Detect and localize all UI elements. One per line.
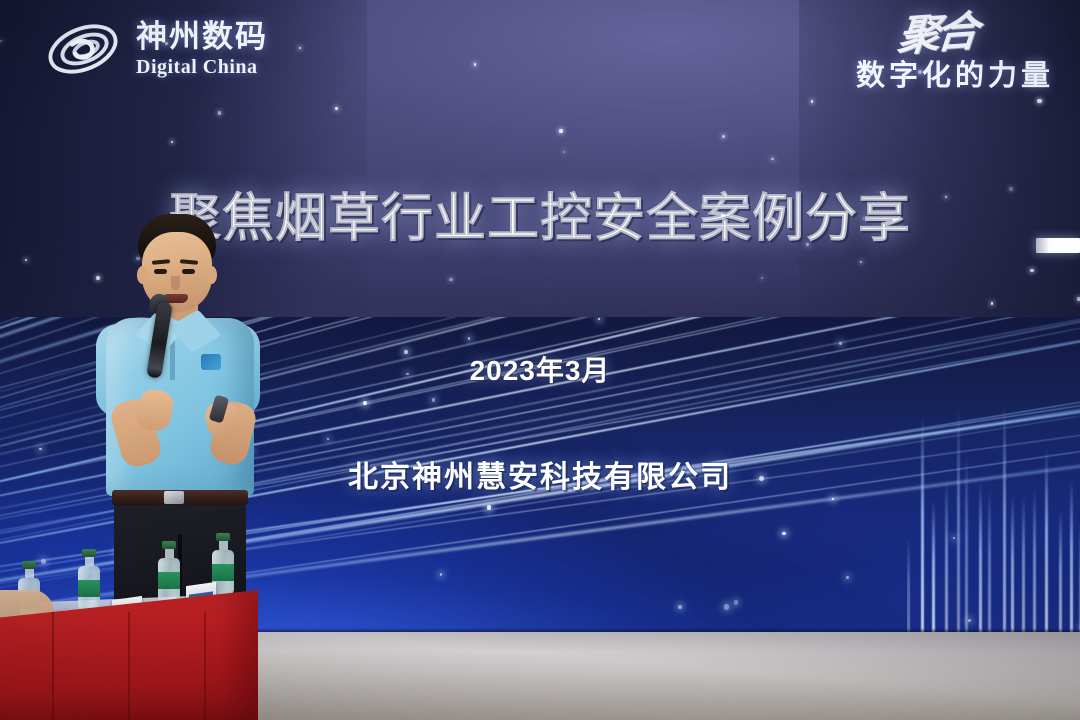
tablecloth-fold bbox=[128, 612, 130, 720]
wave-particle bbox=[598, 318, 600, 320]
vertical-light-bar bbox=[1011, 495, 1014, 634]
bottle-cap bbox=[82, 549, 96, 557]
vertical-light-bar bbox=[1022, 494, 1025, 633]
bottle-label bbox=[78, 580, 100, 597]
star-particle bbox=[771, 158, 773, 160]
star-particle bbox=[811, 100, 814, 103]
star-particle bbox=[722, 135, 725, 138]
speaker-eye-left bbox=[154, 269, 167, 274]
bottle-cap bbox=[216, 533, 230, 541]
bottle-neck bbox=[165, 549, 174, 558]
speaker-ear-right bbox=[206, 266, 217, 284]
swirl-galaxy-logo-icon bbox=[44, 18, 122, 80]
star-particle bbox=[1030, 269, 1033, 272]
brand-logo-english: Digital China bbox=[136, 57, 268, 77]
vertical-light-bar bbox=[945, 478, 948, 634]
vertical-light-bar bbox=[1070, 479, 1073, 634]
vertical-light-bar bbox=[907, 536, 910, 634]
vertical-light-bar bbox=[979, 480, 982, 634]
bottle-neck bbox=[25, 569, 34, 578]
speaker-nose bbox=[171, 276, 180, 290]
conference-stage-photo: 神州数码 Digital China 聚合 数字化的力量 聚焦烟草行业工控安全案… bbox=[0, 0, 1080, 720]
star-particle bbox=[761, 277, 763, 279]
speaker-ear-left bbox=[137, 266, 148, 284]
vertical-light-bar bbox=[921, 415, 924, 634]
star-particle bbox=[991, 302, 993, 304]
wave-particle bbox=[327, 438, 329, 440]
wave-particle bbox=[363, 401, 367, 405]
speaker-belt-buckle bbox=[164, 491, 184, 504]
bottle-neck bbox=[219, 541, 228, 550]
star-particle bbox=[860, 261, 862, 263]
star-particle bbox=[218, 111, 221, 114]
bottle-neck bbox=[85, 557, 94, 566]
water-bottle bbox=[78, 549, 100, 612]
star-particle bbox=[335, 107, 338, 110]
star-particle bbox=[474, 63, 477, 66]
wave-particle bbox=[39, 448, 41, 450]
bottle-cap bbox=[162, 541, 176, 549]
vertical-light-bar bbox=[1033, 487, 1036, 634]
tablecloth-fold bbox=[52, 612, 54, 720]
bottle-label bbox=[212, 564, 234, 581]
vertical-light-bar bbox=[957, 404, 960, 634]
bottle-cap bbox=[22, 561, 36, 569]
event-slogan-subtitle: 数字化的力量 bbox=[856, 62, 1054, 91]
event-slogan-calligraphy: 聚合 bbox=[896, 11, 976, 58]
star-particle bbox=[563, 151, 565, 153]
speaker-shirt-logo-icon bbox=[201, 354, 221, 370]
bottle-label bbox=[158, 572, 180, 589]
wave-particle bbox=[432, 398, 435, 401]
star-particle bbox=[449, 278, 452, 281]
wave-particle bbox=[839, 342, 842, 345]
tablecloth-fold bbox=[204, 612, 206, 720]
brand-logo: 神州数码 Digital China bbox=[44, 18, 268, 80]
vertical-light-bar bbox=[988, 488, 991, 633]
star-particle bbox=[171, 141, 173, 143]
speaker-eye-right bbox=[182, 269, 195, 274]
bottle-body bbox=[78, 566, 100, 612]
star-particle bbox=[25, 259, 27, 261]
right-light-bars bbox=[907, 389, 1080, 634]
vertical-light-bar bbox=[1003, 403, 1006, 633]
event-slogan: 聚合 数字化的力量 bbox=[856, 14, 1054, 91]
screen-edge-light-bar bbox=[1036, 238, 1080, 253]
vertical-light-bar bbox=[932, 500, 935, 634]
bottle-body bbox=[158, 558, 180, 604]
vertical-light-bar bbox=[1059, 509, 1062, 633]
water-bottle bbox=[158, 541, 180, 604]
brand-logo-chinese: 神州数码 bbox=[136, 21, 268, 52]
star-particle bbox=[0, 40, 2, 42]
star-particle bbox=[299, 47, 301, 49]
head-table bbox=[0, 570, 260, 720]
star-particle bbox=[1037, 99, 1042, 104]
star-particle bbox=[559, 129, 562, 132]
wave-particle bbox=[468, 337, 470, 339]
